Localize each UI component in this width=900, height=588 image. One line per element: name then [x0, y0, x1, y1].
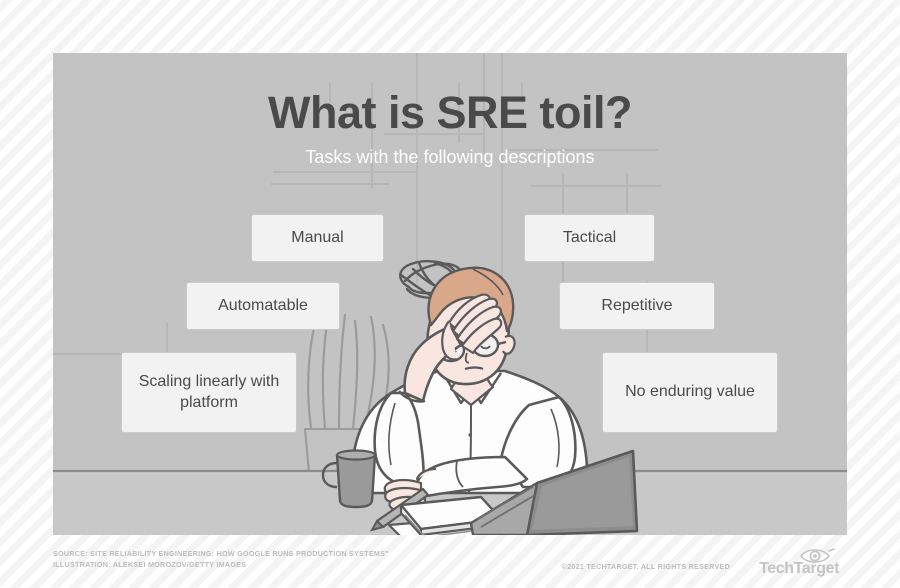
- techtarget-logo[interactable]: TechTarget: [739, 546, 847, 580]
- page-canvas: Manual Tactical Automatable Repetitive S…: [0, 0, 900, 588]
- page-subtitle: Tasks with the following descriptions: [53, 147, 847, 168]
- copyright-text: ©2021 TECHTARGET. ALL RIGHTS RESERVED: [562, 562, 730, 571]
- label-box-repetitive[interactable]: Repetitive: [559, 282, 715, 330]
- label-box-manual[interactable]: Manual: [251, 214, 384, 262]
- footer: SOURCE: SITE RELIABILITY ENGINEERING: HO…: [53, 546, 847, 580]
- label-box-tactical[interactable]: Tactical: [524, 214, 655, 262]
- label-text-automatable: Automatable: [218, 296, 308, 317]
- source-credits: SOURCE: SITE RELIABILITY ENGINEERING: HO…: [53, 548, 389, 570]
- label-box-automatable[interactable]: Automatable: [186, 282, 340, 330]
- label-text-tactical: Tactical: [563, 228, 616, 249]
- label-box-scaling-linearly[interactable]: Scaling linearly with platform: [121, 352, 297, 433]
- label-text-repetitive: Repetitive: [601, 296, 672, 317]
- label-text-manual: Manual: [291, 228, 343, 249]
- label-text-scaling-linearly: Scaling linearly with platform: [122, 372, 296, 414]
- source-line-1: SOURCE: SITE RELIABILITY ENGINEERING: HO…: [53, 548, 389, 559]
- label-box-no-enduring-value[interactable]: No enduring value: [602, 352, 778, 433]
- infographic-panel: Manual Tactical Automatable Repetitive S…: [53, 53, 847, 535]
- techtarget-wordmark: TechTarget: [759, 560, 839, 578]
- label-text-no-enduring-value: No enduring value: [625, 382, 755, 403]
- page-title: What is SRE toil?: [53, 87, 847, 139]
- source-line-2: ILLUSTRATION: ALEKSEI MOROZOV/GETTY IMAG…: [53, 559, 389, 570]
